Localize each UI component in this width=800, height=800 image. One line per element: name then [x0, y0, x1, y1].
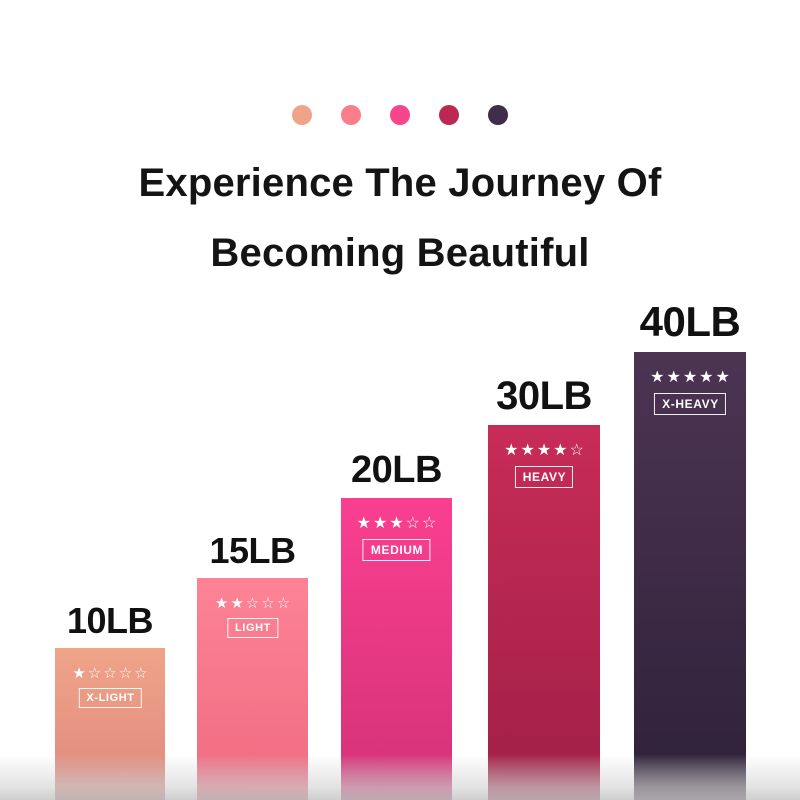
resistance-level-label: HEAVY — [515, 466, 573, 488]
bar-body: ★☆☆☆☆X-LIGHT — [55, 648, 165, 800]
bar-group-40lb[interactable]: 40LB★★★★★X-HEAVY — [634, 352, 746, 800]
star-filled-icon: ★ — [537, 443, 551, 459]
star-filled-icon: ★ — [716, 370, 730, 386]
bar-badge: ★★★★☆HEAVY — [497, 443, 591, 488]
resistance-band-bar-chart: 10LB★☆☆☆☆X-LIGHT15LB★★☆☆☆LIGHT20LB★★★☆☆M… — [0, 0, 800, 800]
star-filled-icon: ★ — [666, 370, 680, 386]
bar-weight-label: 10LB — [67, 600, 153, 642]
bar-badge: ★★★☆☆MEDIUM — [350, 516, 443, 561]
bar-body: ★★★☆☆MEDIUM — [341, 498, 452, 800]
star-filled-icon: ★ — [230, 596, 243, 611]
star-filled-icon: ★ — [683, 370, 697, 386]
star-rating: ★★★★☆ — [497, 443, 591, 459]
bar-badge: ★★☆☆☆LIGHT — [206, 596, 299, 638]
resistance-level-label: MEDIUM — [363, 539, 430, 561]
star-filled-icon: ★ — [215, 596, 228, 611]
star-empty-icon: ☆ — [277, 596, 290, 611]
bar-body: ★★☆☆☆LIGHT — [197, 578, 308, 800]
star-filled-icon: ★ — [389, 516, 403, 532]
star-filled-icon: ★ — [72, 666, 85, 681]
bar-body: ★★★★★X-HEAVY — [634, 352, 746, 800]
star-empty-icon: ☆ — [570, 443, 584, 459]
bar-group-30lb[interactable]: 30LB★★★★☆HEAVY — [488, 425, 600, 800]
star-filled-icon: ★ — [504, 443, 518, 459]
star-empty-icon: ☆ — [134, 666, 147, 681]
star-empty-icon: ☆ — [406, 516, 420, 532]
star-rating: ★★★☆☆ — [350, 516, 443, 532]
infographic-page: Experience The Journey Of Becoming Beaut… — [0, 0, 800, 800]
star-rating: ★★☆☆☆ — [206, 596, 299, 611]
bar-weight-label: 15LB — [209, 530, 295, 572]
resistance-level-label: X-HEAVY — [654, 393, 726, 415]
star-filled-icon: ★ — [699, 370, 713, 386]
star-empty-icon: ☆ — [261, 596, 274, 611]
resistance-level-label: LIGHT — [227, 618, 278, 638]
star-empty-icon: ☆ — [119, 666, 132, 681]
star-empty-icon: ☆ — [246, 596, 259, 611]
bar-badge: ★☆☆☆☆X-LIGHT — [64, 666, 156, 708]
star-rating: ★★★★★ — [643, 370, 737, 386]
bar-group-10lb[interactable]: 10LB★☆☆☆☆X-LIGHT — [55, 648, 165, 800]
star-empty-icon: ☆ — [88, 666, 101, 681]
star-empty-icon: ☆ — [103, 666, 116, 681]
bar-group-15lb[interactable]: 15LB★★☆☆☆LIGHT — [197, 578, 308, 800]
star-rating: ★☆☆☆☆ — [64, 666, 156, 681]
star-filled-icon: ★ — [357, 516, 371, 532]
star-empty-icon: ☆ — [422, 516, 436, 532]
bar-group-20lb[interactable]: 20LB★★★☆☆MEDIUM — [341, 498, 452, 800]
bar-badge: ★★★★★X-HEAVY — [643, 370, 737, 415]
bar-body: ★★★★☆HEAVY — [488, 425, 600, 800]
bar-weight-label: 20LB — [351, 449, 442, 492]
star-filled-icon: ★ — [650, 370, 664, 386]
star-filled-icon: ★ — [373, 516, 387, 532]
bar-weight-label: 40LB — [640, 298, 741, 346]
star-filled-icon: ★ — [520, 443, 534, 459]
star-filled-icon: ★ — [553, 443, 567, 459]
resistance-level-label: X-LIGHT — [78, 688, 141, 708]
bar-weight-label: 30LB — [496, 374, 592, 419]
bar-fill — [634, 352, 746, 800]
